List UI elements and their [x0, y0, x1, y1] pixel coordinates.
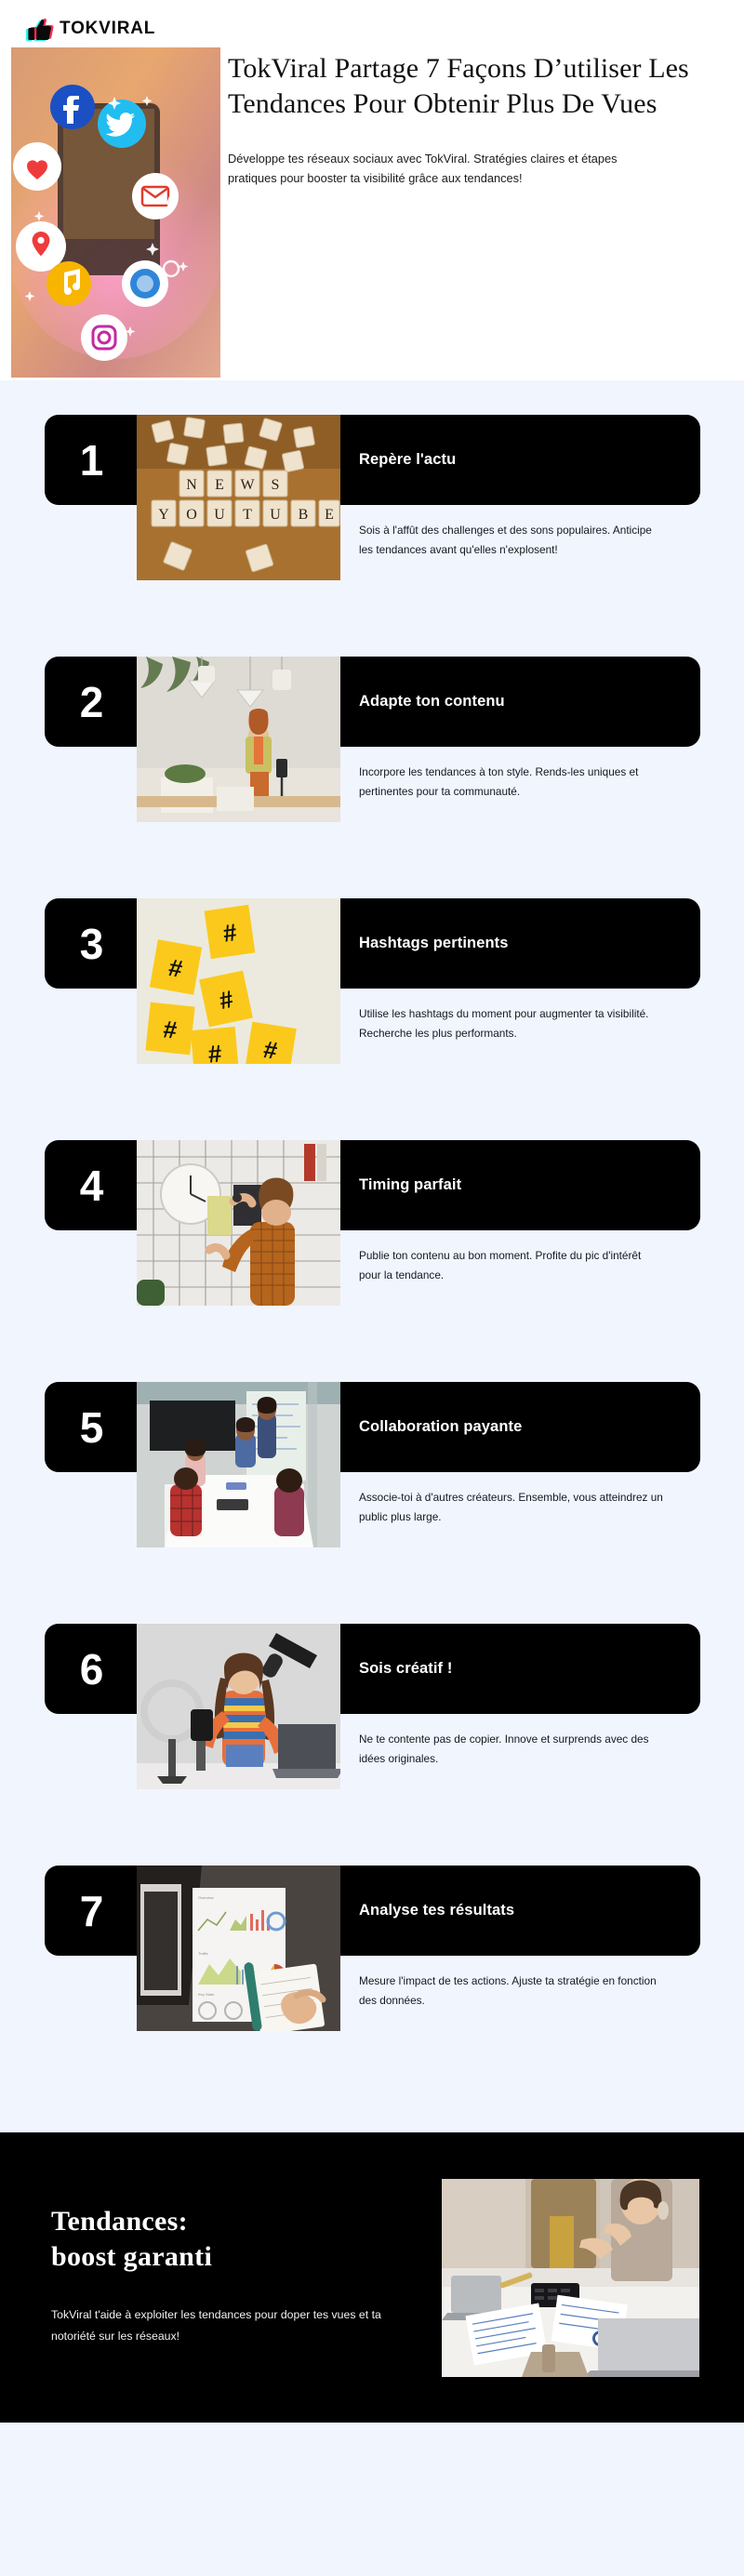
step-card: 1 — [0, 412, 744, 654]
step-number: 4 — [45, 1140, 138, 1230]
svg-text:Traffic: Traffic — [198, 1951, 208, 1956]
step-image — [137, 657, 340, 822]
step-image — [137, 1140, 340, 1306]
footer-section: Tendances: boost garanti TokViral t'aide… — [0, 2132, 744, 2423]
step-card: 5 — [0, 1379, 744, 1621]
svg-text:Key Stats: Key Stats — [198, 1992, 214, 1997]
footer-description: TokViral t'aide à exploiter les tendance… — [51, 2304, 381, 2346]
step-number: 5 — [45, 1382, 138, 1472]
step-title: Adapte ton contenu — [359, 657, 694, 747]
page-title: TokViral Partage 7 Façons D’utiliser Les… — [228, 51, 716, 122]
step-title: Repère l'actu — [359, 415, 694, 505]
svg-text:Y: Y — [158, 507, 169, 523]
step-description: Utilise les hashtags du moment pour augm… — [359, 1004, 666, 1044]
step-description: Incorpore les tendances à ton style. Ren… — [359, 763, 666, 803]
step-title: Hashtags pertinents — [359, 898, 694, 989]
step-image: # # # # — [137, 898, 340, 1064]
step-card: 2 — [0, 654, 744, 896]
step-card: 4 — [0, 1137, 744, 1379]
hero-image — [11, 47, 220, 378]
step-image — [137, 1624, 340, 1789]
step-number: 3 — [45, 898, 138, 989]
footer-title-line-2: boost garanti — [51, 2239, 395, 2275]
step-number: 1 — [45, 415, 138, 505]
footer-title-line-1: Tendances: — [51, 2204, 395, 2239]
header-copy: TokViral Partage 7 Façons D’utiliser Les… — [228, 51, 716, 189]
svg-text:N: N — [186, 477, 197, 493]
footer-copy: Tendances: boost garanti TokViral t'aide… — [51, 2204, 395, 2346]
step-description: Associe-toi à d'autres créateurs. Ensemb… — [359, 1488, 666, 1528]
infographic-page: TOKVIRAL — [0, 0, 744, 2576]
step-title: Collaboration payante — [359, 1382, 694, 1472]
step-card: 3 # # # — [0, 896, 744, 1137]
step-card: 7 Overview Traffic Key Stats — [0, 1863, 744, 2105]
svg-text:E: E — [215, 477, 224, 493]
header-section: TOKVIRAL — [0, 0, 744, 380]
step-image — [137, 1382, 340, 1547]
svg-text:S: S — [272, 477, 280, 493]
svg-text:U: U — [214, 507, 225, 523]
footer-image — [442, 2179, 699, 2377]
step-description: Mesure l'impact de tes actions. Ajuste t… — [359, 1972, 666, 2012]
brand-logo[interactable]: TOKVIRAL — [28, 17, 155, 41]
steps-section: 1 — [0, 380, 744, 2132]
step-number: 6 — [45, 1624, 138, 1714]
svg-text:E: E — [325, 507, 334, 523]
step-description: Ne te contente pas de copier. Innove et … — [359, 1730, 666, 1770]
step-title: Analyse tes résultats — [359, 1866, 694, 1956]
footer-title: Tendances: boost garanti — [51, 2204, 395, 2274]
step-title: Timing parfait — [359, 1140, 694, 1230]
step-number: 2 — [45, 657, 138, 747]
svg-text:Overview: Overview — [198, 1895, 214, 1900]
svg-text:B: B — [299, 507, 309, 523]
svg-text:O: O — [186, 507, 197, 523]
brand-name: TOKVIRAL — [60, 19, 155, 39]
step-title: Sois créatif ! — [359, 1624, 694, 1714]
svg-text:W: W — [240, 477, 255, 493]
page-description: Développe tes réseaux sociaux avec TokVi… — [228, 150, 667, 188]
svg-text:U: U — [270, 507, 281, 523]
step-description: Publie ton contenu au bon moment. Profit… — [359, 1246, 666, 1286]
step-number: 7 — [45, 1866, 138, 1956]
svg-text:T: T — [243, 507, 252, 523]
step-description: Sois à l'affût des challenges et des son… — [359, 521, 666, 561]
step-image: NEWS YOU TUBE — [137, 415, 340, 580]
step-card: 6 — [0, 1621, 744, 1863]
thumbs-up-icon — [28, 18, 53, 41]
step-image: Overview Traffic Key Stats — [137, 1866, 340, 2031]
